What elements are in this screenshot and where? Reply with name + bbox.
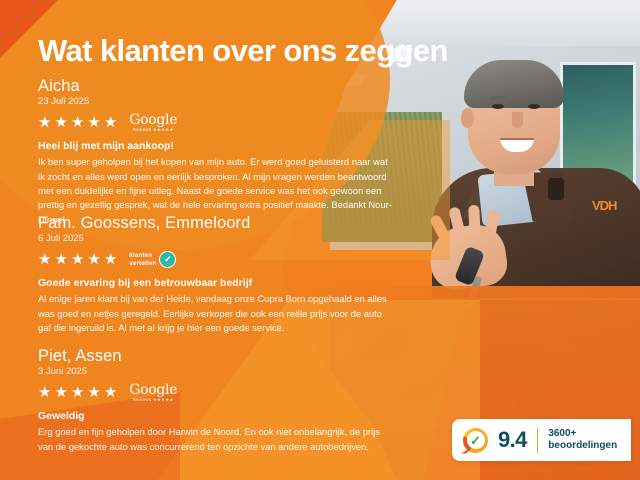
testimonial-banner: VDH Wat klanten over ons zeggen Aicha 23… bbox=[0, 0, 640, 480]
review-date: 23 Juli 2025 bbox=[38, 97, 398, 107]
page-title: Wat klanten over ons zeggen bbox=[38, 33, 448, 69]
review-body: Erg goed en fijn geholpen door Harwin de… bbox=[38, 425, 393, 454]
google-wordmark: Google bbox=[129, 113, 177, 127]
star-icon: ★ bbox=[104, 115, 117, 130]
review-card: Fam. Goossens, Emmeloord 6 Juli 2025 ★ ★… bbox=[38, 215, 398, 335]
review-title: Heel blij met mijn aankoop! bbox=[38, 140, 398, 153]
klantenvertellen-seal-icon: ✓ bbox=[463, 428, 488, 453]
klantenvertellen-wordmark: klanten vertellen bbox=[129, 252, 156, 267]
divider bbox=[537, 428, 539, 453]
review-count-label: beoordelingen bbox=[548, 440, 617, 451]
review-title: Goede ervaring bij een betrouwbaar bedri… bbox=[38, 277, 398, 290]
star-icon: ★ bbox=[54, 252, 67, 267]
klantenvertellen-line2: vertellen bbox=[129, 260, 156, 267]
star-icon: ★ bbox=[38, 115, 51, 130]
star-rating: ★ ★ ★ ★ ★ bbox=[38, 115, 117, 130]
star-icon: ★ bbox=[87, 115, 100, 130]
star-icon: ★ bbox=[54, 385, 67, 400]
star-icon: ★ bbox=[71, 385, 84, 400]
google-reviews-logo: Google Reviews ★★★★★ bbox=[129, 113, 177, 132]
rating-score: 9.4 bbox=[498, 429, 527, 451]
review-card: Aicha 23 Juli 2025 ★ ★ ★ ★ ★ Google Revi… bbox=[38, 78, 398, 227]
checkmark-icon: ✓ bbox=[467, 431, 485, 449]
star-icon: ★ bbox=[104, 385, 117, 400]
review-date: 6 Juli 2025 bbox=[38, 234, 398, 244]
review-meta: ★ ★ ★ ★ ★ klanten vertellen ✓ bbox=[38, 249, 398, 271]
overall-rating-badge: ✓ 9.4 3600+ beoordelingen bbox=[452, 419, 631, 461]
star-rating: ★ ★ ★ ★ ★ bbox=[38, 252, 117, 267]
star-icon: ★ bbox=[38, 385, 51, 400]
klantenvertellen-line1: klanten bbox=[129, 252, 152, 259]
star-icon: ★ bbox=[71, 115, 84, 130]
star-icon: ★ bbox=[38, 252, 51, 267]
google-reviews-label: Reviews ★★★★★ bbox=[133, 128, 174, 132]
review-title: Geweldig bbox=[38, 410, 398, 423]
google-reviews-label: Reviews ★★★★★ bbox=[133, 398, 174, 402]
review-meta: ★ ★ ★ ★ ★ Google Reviews ★★★★★ bbox=[38, 112, 398, 134]
star-icon: ★ bbox=[87, 252, 100, 267]
content-layer: Wat klanten over ons zeggen Aicha 23 Jul… bbox=[0, 0, 640, 480]
review-count: 3600+ beoordelingen bbox=[548, 428, 617, 453]
star-rating: ★ ★ ★ ★ ★ bbox=[38, 385, 117, 400]
star-icon: ★ bbox=[54, 115, 67, 130]
klantenvertellen-logo: klanten vertellen ✓ bbox=[129, 251, 176, 268]
google-reviews-logo: Google Reviews ★★★★★ bbox=[129, 383, 177, 402]
check-badge-icon: ✓ bbox=[159, 251, 176, 268]
reviewer-name: Fam. Goossens, Emmeloord bbox=[38, 215, 398, 232]
review-card: Piet, Assen 3 Juni 2025 ★ ★ ★ ★ ★ Google… bbox=[38, 348, 398, 454]
review-count-number: 3600+ bbox=[548, 428, 576, 439]
reviewer-name: Piet, Assen bbox=[38, 348, 398, 365]
google-wordmark: Google bbox=[129, 383, 177, 397]
star-icon: ★ bbox=[104, 252, 117, 267]
review-date: 3 Juni 2025 bbox=[38, 367, 398, 377]
review-body: Al enige jaren klant bij van der Heide, … bbox=[38, 292, 393, 335]
review-meta: ★ ★ ★ ★ ★ Google Reviews ★★★★★ bbox=[38, 382, 398, 404]
star-icon: ★ bbox=[87, 385, 100, 400]
star-icon: ★ bbox=[71, 252, 84, 267]
reviewer-name: Aicha bbox=[38, 78, 398, 95]
